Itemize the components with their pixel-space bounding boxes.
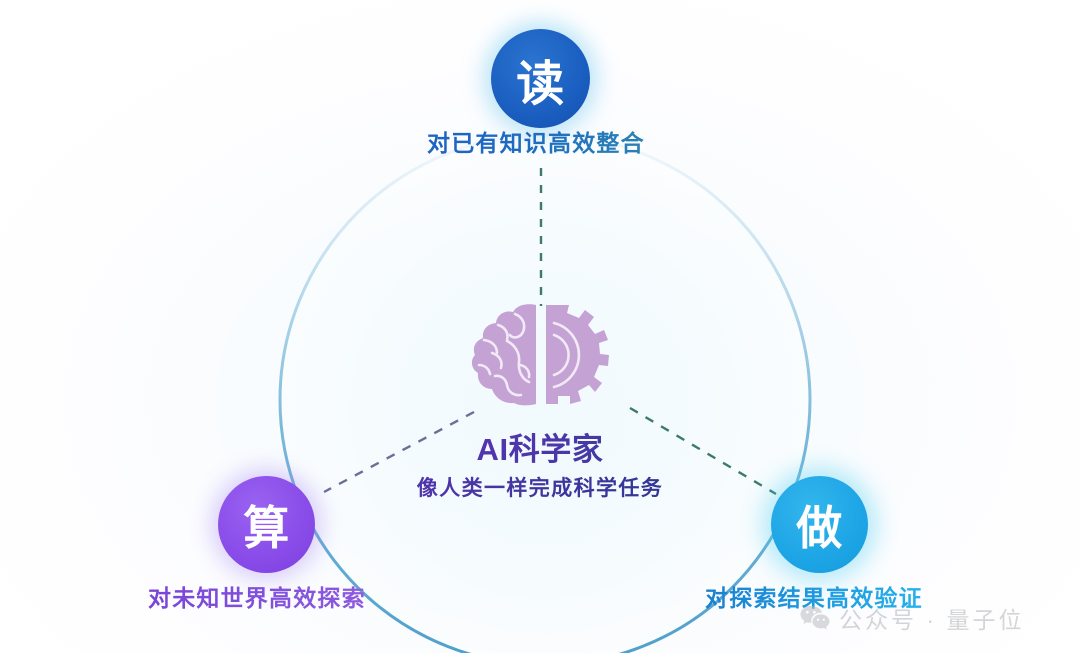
- node-calc-label: 对未知世界高效探索: [148, 579, 366, 613]
- center-title: AI科学家: [0, 424, 1080, 469]
- brain-gear-icon: [468, 303, 614, 407]
- watermark-text: 公众号 · 量子位: [839, 601, 1024, 635]
- node-read-label: 对已有知识高效整合: [427, 124, 645, 158]
- brain-half-icon: [472, 304, 536, 405]
- gear-half-icon: [546, 305, 609, 404]
- infographic-canvas: 读 对已有知识高效整合 算 对未知世界高效探索 做 对探索结果高效验证: [0, 0, 1080, 653]
- node-read-glyph: 读: [516, 44, 565, 114]
- wechat-icon: [800, 605, 830, 631]
- watermark: 公众号 · 量子位: [800, 601, 1024, 635]
- center-subtitle: 像人类一样完成科学任务: [0, 472, 1080, 502]
- node-read-circle[interactable]: 读: [491, 29, 590, 128]
